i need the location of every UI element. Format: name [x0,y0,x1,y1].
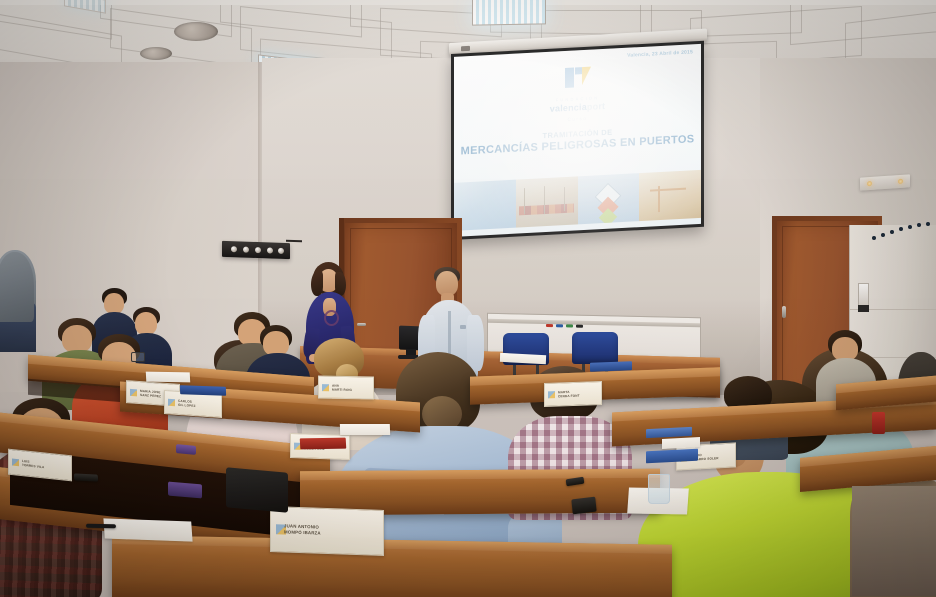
purple-case [168,482,202,499]
slide-date: Valencia, 23 Abril de 2015 [627,49,693,58]
marker-blue[interactable] [556,324,563,327]
floor-aisle-right [852,486,936,596]
presenter-man-shirt-placket [448,311,451,357]
ceiling-vent-large [174,22,218,41]
classroom-photo: Valencia, 23 Abril de 2015 FUNDACION val… [0,0,936,597]
placard-row2-right: ANA MARTI ROIG [318,376,374,400]
placard-name-line1: JUAN ANTONIO [284,523,319,529]
placard-name-line2: TORRES VILA [22,463,44,469]
placard-far-right: MARTA CERDA FONT [544,381,602,407]
placard-name-line2: MARTI ROIG [332,387,352,391]
placard-logo-icon [548,391,555,398]
marker-green[interactable] [566,324,573,327]
placard-name-line2: MOMPÓ IBARZA [284,529,321,535]
valenciaport-logo: FUNDACION valenciaport [454,61,701,119]
cabinet-handle[interactable] [858,283,869,307]
papers-left-desk [662,437,700,449]
cabinet-slot [858,305,869,312]
attendee-row3-glasses-icon [131,352,145,362]
placard-name-line2: GIL LOPEZ [178,403,196,408]
logo-word-b: port [587,101,605,112]
strip-hazmat-placards [578,173,640,224]
placard-name-line2: CERDA FONT [558,394,580,399]
placard-front-center: JUAN ANTONIO MOMPÓ IBARZA [270,506,384,556]
logo-mark-icon [565,67,591,88]
housing-nub [461,46,470,52]
placard-logo-icon [12,459,19,467]
marker-red[interactable] [546,324,553,327]
placard-logo-icon [322,384,329,391]
projection-screen: Valencia, 23 Abril de 2015 FUNDACION val… [451,41,704,240]
marker-black[interactable] [576,325,583,328]
slide-canvas: Valencia, 23 Abril de 2015 FUNDACION val… [454,44,701,237]
phone-foreground[interactable] [571,497,596,515]
center-door-handle[interactable] [357,323,366,326]
papers-foreground [103,518,192,541]
slide-image-strip [454,170,701,231]
right-door-handle[interactable] [782,306,786,318]
strip-photo-terminal [516,176,578,227]
strip-photo-waves [454,180,516,231]
presenter-woman-necklace [324,310,339,326]
purple-case-small [176,444,196,455]
folder-red-row3 [300,438,347,450]
strip-photo-crane [639,170,701,221]
bench-row-5-front [112,535,672,597]
laptop-bag-left [226,467,288,512]
folder-blue-row2 [180,385,226,396]
ceiling-vent-small [140,47,172,60]
placard-logo-icon [130,388,137,395]
remote-left-desk[interactable] [74,473,98,481]
water-glass[interactable] [648,474,670,504]
presenter-man-arm-right [467,315,484,371]
logo-word-a: valencia [550,102,587,114]
folder-blue-right [590,361,632,371]
pen-left-desk[interactable] [86,524,116,529]
placard-logo-icon [168,399,175,406]
papers-row3-center [340,424,390,435]
decorative-dots [872,222,936,262]
whiteboard-tray [488,319,700,327]
placard-name-line2: SANZ PEREZ [140,393,161,398]
ceiling-grid-light-right [472,0,546,26]
papers-row2-left [146,372,190,383]
red-can[interactable] [872,412,885,434]
presenter-man-pocket [460,325,466,329]
wall-speaker-bar [222,241,290,259]
